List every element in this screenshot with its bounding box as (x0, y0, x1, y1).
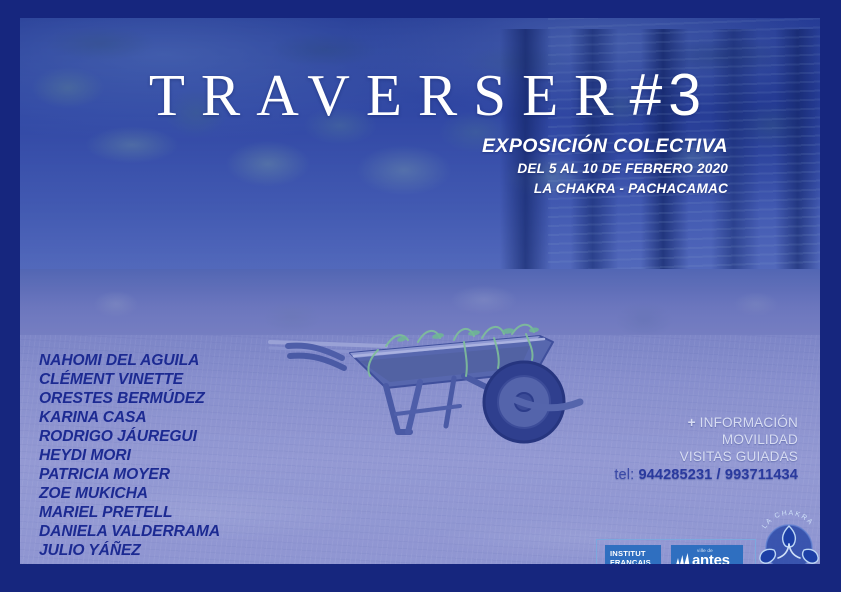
list-item: PATRICIA MOYER (39, 465, 220, 484)
exhibition-venue-label: LA CHAKRA - PACHACAMAC (482, 179, 728, 199)
info-line-informacion: + INFORMACIÓN (614, 414, 798, 431)
list-item: NAHOMI DEL AGUILA (39, 351, 220, 370)
list-item: HEYDI MORI (39, 446, 220, 465)
contact-phone[interactable]: tel: 944285231 / 993711434 (614, 467, 798, 484)
title-main-text: TRAVERSER (149, 62, 630, 128)
title-issue-number: #3 (629, 62, 707, 128)
list-item: ZOE MUKICHA (39, 484, 220, 503)
phone-numbers: 944285231 / 993711434 (638, 467, 798, 483)
information-block: + INFORMACIÓN MOVILIDAD VISITAS GUIADAS … (614, 414, 798, 484)
list-item: JULIO YÁÑEZ (39, 541, 220, 560)
info-informacion-label: INFORMACIÓN (700, 415, 798, 430)
artist-list: NAHOMI DEL AGUILA CLÉMENT VINETTE ORESTE… (39, 351, 220, 580)
exhibition-type-label: EXPOSICIÓN COLECTIVA (482, 135, 728, 158)
list-item: RODRIGO JÁUREGUI (39, 427, 220, 446)
phone-label: tel: (614, 467, 634, 483)
title-block: TRAVERSER#3 (20, 66, 820, 125)
nantes-ville-de-label: ville de (697, 548, 713, 553)
plus-icon: + (688, 415, 696, 430)
list-item: ORESTES BERMÚDEZ (39, 389, 220, 408)
page-title: TRAVERSER#3 (20, 66, 820, 125)
nantes-wordmark: antes (692, 553, 730, 568)
subtitle-block: EXPOSICIÓN COLECTIVA DEL 5 AL 10 DE FEBR… (482, 135, 728, 198)
la-chakra-emblem: LA CHAKRA (750, 504, 828, 582)
info-visitas-guiadas-label: VISITAS GUIADAS (614, 448, 798, 465)
nantes-logo[interactable]: ville de antes (671, 545, 743, 573)
list-item: CLÉMENT VINETTE (39, 370, 220, 389)
list-item: ANDRES YAQUES (39, 561, 220, 580)
institut-francais-logo[interactable]: INSTITUT FRANÇAIS (605, 545, 661, 573)
poster: TRAVERSER#3 EXPOSICIÓN COLECTIVA DEL 5 A… (0, 0, 841, 592)
list-item: KARINA CASA (39, 408, 220, 427)
list-item: MARIEL PRETELL (39, 503, 220, 522)
sponsor-logos: INSTITUT FRANÇAIS ville de antes (596, 539, 756, 579)
info-movilidad-label: MOVILIDAD (614, 431, 798, 448)
wheelbarrow-illustration (268, 306, 598, 456)
institut-francais-line2: FRANÇAIS (610, 559, 661, 568)
exhibition-dates-label: DEL 5 AL 10 DE FEBRERO 2020 (482, 159, 728, 179)
nantes-wave-icon (675, 552, 691, 567)
list-item: DANIELA VALDERRAMA (39, 522, 220, 541)
